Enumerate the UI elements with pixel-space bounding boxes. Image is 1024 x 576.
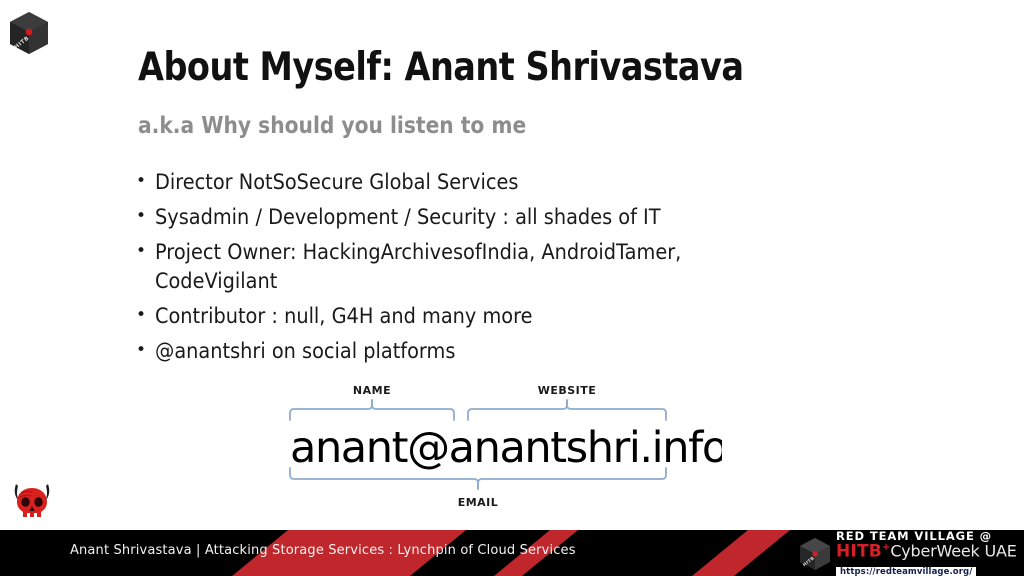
list-item: • Sysadmin / Development / Security : al… <box>136 203 836 233</box>
rtv-cyberweek-label: CyberWeek UAE <box>890 542 1016 561</box>
list-item: • Contributor : null, G4H and many more <box>136 302 836 332</box>
rtv-brand-text: RED TEAM VILLAGE @ HITB+CyberWeek UAE ht… <box>836 531 1017 576</box>
label-name: NAME <box>353 384 391 397</box>
rtv-hitb-label: HITB <box>836 542 882 562</box>
bracket-name <box>290 400 454 420</box>
email-address-text: anant@anantshri.info <box>290 423 722 473</box>
list-item-label: @anantshri on social platforms <box>155 337 782 367</box>
footer-caption: Anant Shrivastava | Attacking Storage Se… <box>70 543 576 558</box>
list-item-label: Director NotSoSecure Global Services <box>155 168 782 198</box>
slide: HITB About Myself: Anant Shrivastava a.k… <box>0 0 1024 576</box>
list-item: • Director NotSoSecure Global Services <box>136 168 836 198</box>
list-item-label: Project Owner: HackingArchivesofIndia, A… <box>155 238 782 298</box>
page-title: About Myself: Anant Shrivastava <box>138 48 743 89</box>
red-team-village-skull-logo <box>8 480 56 524</box>
rtv-url-badge[interactable]: https://redteamvillage.org/ <box>836 567 976 576</box>
hitb-cube-icon: HITB <box>798 536 832 572</box>
bullet-dot-icon: • <box>136 337 155 363</box>
hitb-cube-logo: HITB <box>8 10 50 56</box>
footer-bar: Anant Shrivastava | Attacking Storage Se… <box>0 530 1024 576</box>
bullet-dot-icon: • <box>136 238 155 264</box>
bullet-list: • Director NotSoSecure Global Services •… <box>136 168 836 372</box>
list-item: • Project Owner: HackingArchivesofIndia,… <box>136 238 836 298</box>
list-item-label: Sysadmin / Development / Security : all … <box>155 203 782 233</box>
bullet-dot-icon: • <box>136 168 155 194</box>
list-item: • @anantshri on social platforms <box>136 337 836 367</box>
bullet-dot-icon: • <box>136 203 155 229</box>
label-website: WEBSITE <box>538 384 597 397</box>
rtv-brand-line1: RED TEAM VILLAGE @ <box>836 531 1017 543</box>
rtv-brand-line2: HITB+CyberWeek UAE <box>836 543 1017 560</box>
list-item-label: Contributor : null, G4H and many more <box>155 302 782 332</box>
red-team-village-badge[interactable]: HITB RED TEAM VILLAGE @ HITB+CyberWeek U… <box>794 533 1016 575</box>
label-email: EMAIL <box>458 496 499 509</box>
page-subtitle: a.k.a Why should you listen to me <box>138 113 526 139</box>
email-anatomy-figure: NAME WEBSITE anant@anantshri.info EMAIL <box>272 374 722 510</box>
bullet-dot-icon: • <box>136 302 155 328</box>
bracket-website <box>468 400 666 420</box>
